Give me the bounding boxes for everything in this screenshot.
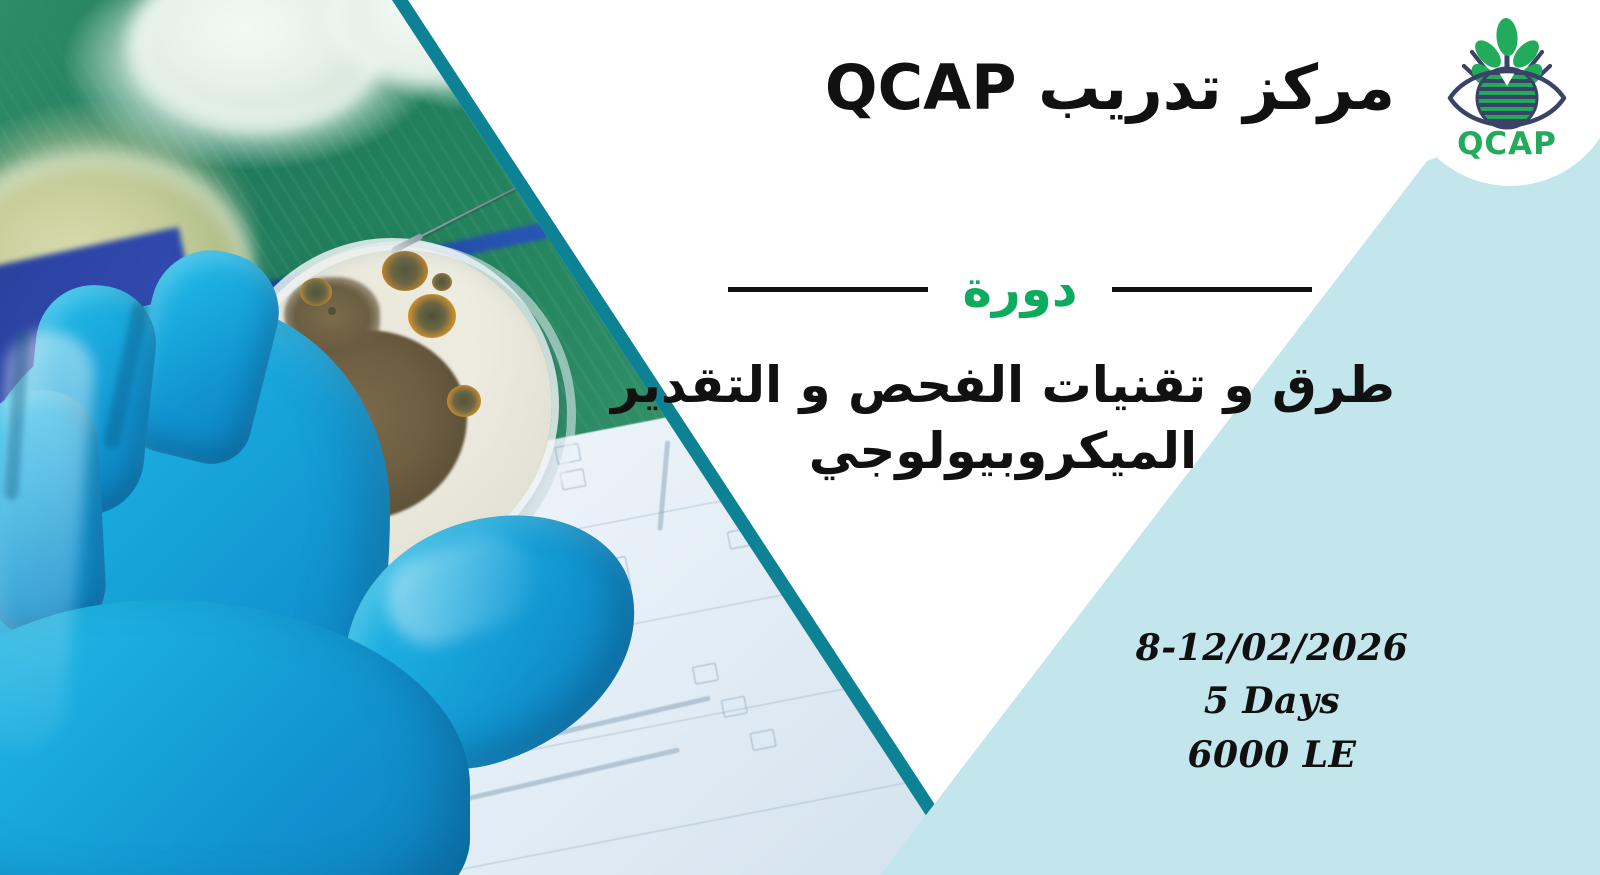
rule-right	[1112, 287, 1312, 292]
course-meta: 8-12/02/2026 5 Days 6000 LE	[1092, 622, 1452, 782]
qcap-logo: QCAP	[1432, 14, 1582, 166]
qcap-eye-plant-icon	[1432, 14, 1582, 132]
course-price: 6000 LE	[1092, 729, 1452, 782]
rule-left	[728, 287, 928, 292]
course-duration: 5 Days	[1092, 675, 1452, 728]
course-title: طرق و تقنيات الفحص و التقدير الميكروبيول…	[458, 352, 1548, 484]
page-title: مركز تدريب QCAP	[655, 52, 1395, 123]
logo-wordmark: QCAP	[1432, 126, 1582, 162]
course-label-row: دورة	[480, 252, 1560, 326]
course-dates: 8-12/02/2026	[1092, 622, 1452, 675]
course-poster: QCAP مركز تدريب QCAP دورة طرق و تقنيات ا…	[0, 0, 1600, 875]
course-label: دورة	[954, 264, 1085, 314]
